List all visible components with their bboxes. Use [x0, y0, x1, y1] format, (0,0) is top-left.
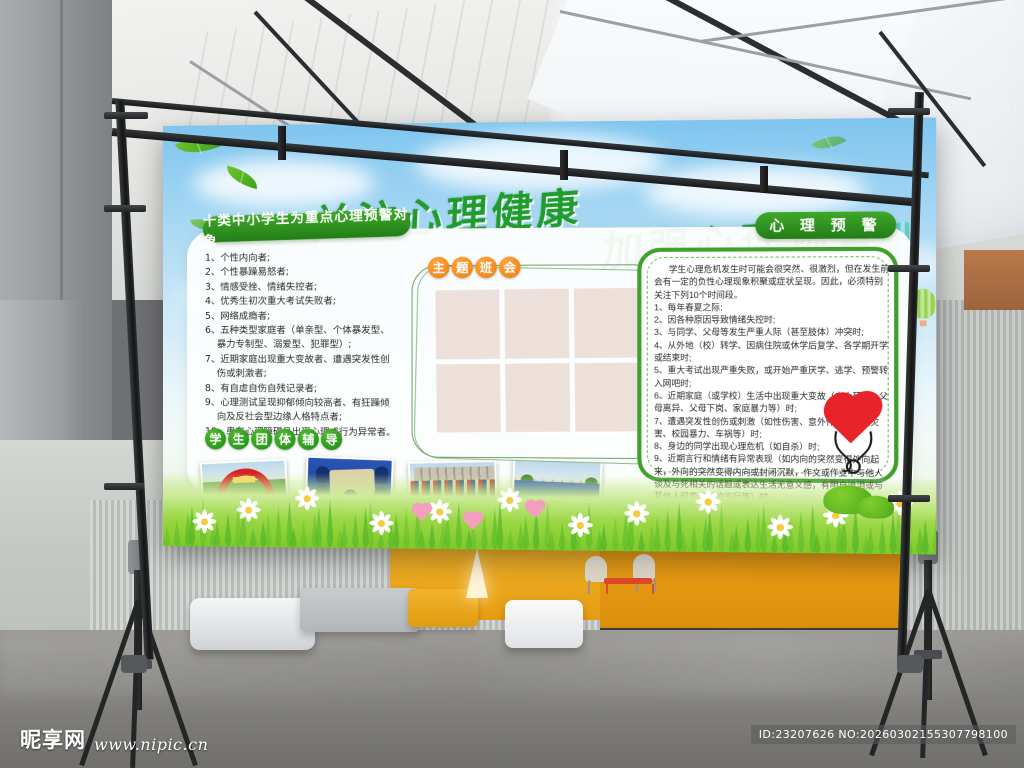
group-counseling-char: 体 [274, 429, 295, 450]
warning-timing-item: 4、从外地（校）转学、因病住院或休学后复学、各学期开学或结束时; [654, 339, 890, 365]
grass-blade [690, 524, 698, 552]
grass-blade [824, 525, 833, 553]
bench-grey [300, 588, 420, 632]
grass-blade [224, 513, 232, 547]
topic-badge-char: 主 [428, 257, 450, 278]
photo-placeholder [435, 290, 500, 359]
heart-stethoscope-icon [821, 400, 885, 475]
topic-badge-char: 会 [499, 257, 521, 278]
grass-blade [759, 503, 767, 553]
photo-placeholder [575, 362, 640, 432]
pole-arm [104, 205, 146, 212]
daisy-flower-icon [237, 499, 259, 521]
daisy-flower-icon [296, 487, 318, 509]
grass-blade [611, 516, 619, 551]
red-side-table [604, 578, 652, 584]
banner-hanger [560, 150, 568, 180]
warning-target-item: 9、心理测试呈现抑郁倾向较高者、有狂躁倾 向及反社会型边缘人格特点者; [205, 396, 436, 426]
group-counseling-char: 辅 [298, 429, 319, 450]
group-counseling-char: 导 [321, 429, 342, 450]
group-counseling-char: 团 [251, 428, 272, 449]
group-counseling-char: 学 [205, 428, 226, 449]
grass-blade [300, 520, 308, 547]
floor-lamp [466, 548, 488, 598]
watermark-logo: 昵享网 [20, 724, 86, 754]
pole-arm [888, 495, 930, 502]
photo-placeholder [436, 363, 501, 432]
photo-placeholder-grid [435, 288, 640, 433]
grass-blade [428, 522, 436, 549]
grass-blade [921, 519, 930, 554]
banner-hanger [760, 166, 768, 192]
warning-timing-item: 2、因各种原因导致情绪失控时; [654, 313, 890, 326]
pole-arm [888, 108, 930, 115]
grass-blade [664, 509, 672, 551]
pole-arm [104, 112, 148, 119]
bench-white [190, 598, 315, 650]
brick-patch [964, 250, 1024, 310]
warning-intro: 学生心理危机发生时可能会很突然、很激烈，但在发生前会有一定的负性心理现象积聚或症… [654, 262, 890, 301]
daisy-flower-icon [625, 502, 648, 525]
grass-blade [521, 515, 529, 550]
grass-blade [743, 517, 751, 552]
grass-blade [326, 499, 334, 547]
daisy-flower-icon [370, 512, 392, 534]
grass-blade [264, 513, 272, 547]
grass-blade [867, 526, 876, 554]
warning-target-item: 1、个性内向者; [205, 251, 436, 266]
group-counseling-char: 生 [228, 428, 249, 449]
grass-blade [249, 527, 257, 547]
grass-blade [315, 506, 323, 547]
grass-blade [403, 507, 411, 549]
grass-blade [679, 531, 687, 552]
warning-target-item: 5、网络成瘾者; [205, 309, 436, 324]
grass-blade [600, 523, 608, 551]
daisy-flower-icon [193, 510, 215, 532]
leaf-icon [811, 128, 846, 156]
warning-target-item: 8、有自虐自伤自残记录者; [205, 382, 436, 397]
warning-target-item: 6、五种类型家庭者（单亲型、个体暴发型、 暴力专制型、溺爱型、犯罪型）; [205, 324, 436, 353]
pole-arm [888, 265, 930, 272]
grass-blade [878, 519, 887, 554]
warning-timing-item: 5、重大考试出现严重失败，或开始严重厌学、逃学、预警转入网吧时; [654, 364, 890, 390]
group-counseling-heading: 学生团体辅导 [205, 428, 342, 450]
topic-badge-char: 题 [452, 257, 474, 278]
warning-timing-item: 1、每年春夏之际; [654, 301, 890, 314]
warning-target-item: 4、优秀生初次重大考试失败者; [205, 295, 436, 310]
photo-frame-area [412, 264, 661, 459]
psych-warning-box: 学生心理危机发生时可能会很突然、很激烈，但在发生前会有一定的负性心理现象积聚或症… [637, 247, 898, 484]
photo-placeholder [505, 363, 570, 432]
grass-blade [797, 511, 806, 553]
grass-blade [558, 523, 566, 551]
daisy-flower-icon [498, 489, 521, 512]
watermark: 昵享网 www.nipic.cn [20, 724, 208, 754]
daisy-flower-icon [768, 516, 791, 539]
image-id-bar: ID:23207626 NO:20260302155307798100 [751, 725, 1016, 744]
grass-blade [506, 529, 514, 549]
daisy-flower-icon [568, 514, 591, 537]
grass-blade [548, 530, 556, 550]
grass-blade [932, 512, 936, 555]
grass-blade [454, 500, 462, 549]
psychology-health-banner: 关注心理健康 加强心理预警 主题班会 十类中小学生为重点心理预警对象 心 理 预… [163, 117, 936, 554]
grass-blade [392, 514, 400, 548]
bench-white-2 [505, 600, 583, 648]
grass-blade [637, 531, 645, 552]
daisy-flower-icon [696, 490, 719, 513]
grass-blade [732, 524, 740, 552]
grass-blade [418, 529, 426, 549]
pole-foot [121, 655, 147, 673]
pole-foot [897, 655, 923, 673]
scene-root: 关注心理健康 加强心理预警 主题班会 十类中小学生为重点心理预警对象 心 理 预… [0, 0, 1024, 768]
grass-blade [275, 506, 283, 547]
grass-band [163, 472, 936, 555]
grass-blade [351, 514, 359, 548]
daisy-flower-icon [428, 500, 451, 523]
watermark-url: www.nipic.cn [94, 735, 208, 754]
grass-blade [813, 532, 822, 553]
topic-badge: 主题班会 [428, 257, 521, 279]
banner-hanger [278, 126, 286, 160]
grass-blade [706, 510, 714, 552]
warning-timing-item: 3、与同学、父母等发生严重人际（甚至肢体）冲突时; [654, 326, 890, 339]
photo-placeholder [504, 289, 569, 359]
grass-blade [163, 526, 171, 546]
pink-heart-icon [527, 502, 544, 519]
grass-blade [173, 519, 181, 546]
photo-placeholder [574, 288, 639, 358]
grass-blade [289, 527, 297, 547]
chair [633, 554, 655, 580]
grass-blade [653, 517, 661, 552]
pole-arm [104, 483, 144, 490]
right-section-heading: 心 理 预 警 [755, 211, 896, 239]
topic-badge-char: 班 [475, 257, 497, 278]
grass-blade [341, 521, 349, 548]
left-section-heading: 十类中小学生为重点心理预警对象 [203, 210, 411, 243]
warning-target-list: 1、个性内向者;2、个性暴躁易怒者;3、情感受挫、情绪失控者;4、优秀生初次重大… [205, 251, 436, 441]
content-card: 十类中小学生为重点心理预警对象 心 理 预 警 1、个性内向者;2、个性暴躁易怒… [187, 226, 914, 502]
pink-heart-icon [465, 513, 482, 530]
warning-target-item: 3、情感受挫、情绪失控者; [205, 280, 436, 295]
warning-target-item: 2、个性暴躁易怒者; [205, 265, 436, 280]
warning-target-item: 7、近期家庭出现重大变故者、遭遇突发性创 伤或刺激者; [205, 353, 436, 382]
